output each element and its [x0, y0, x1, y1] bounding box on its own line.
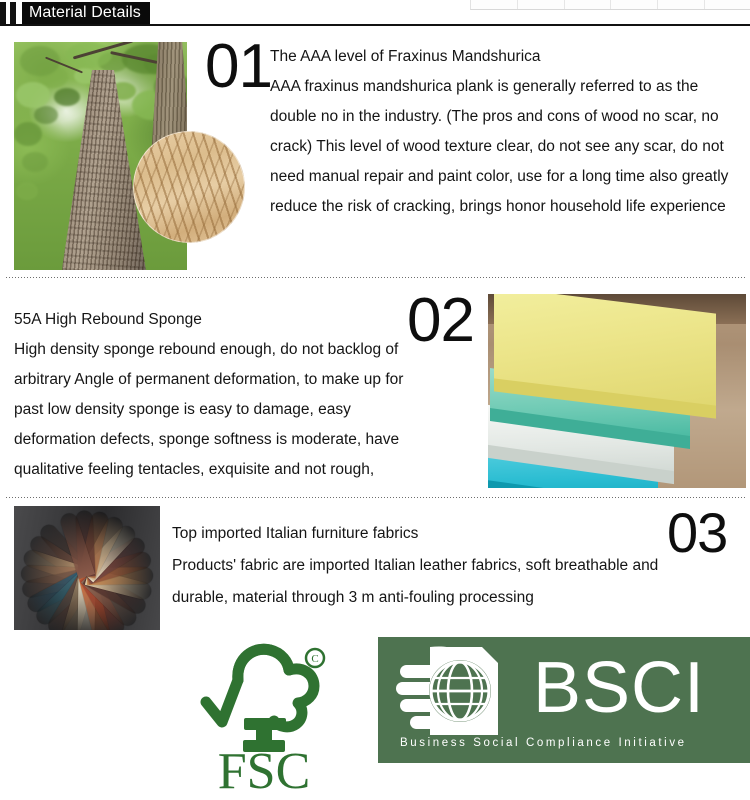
canopy-foliage — [16, 182, 38, 200]
svg-text:C: C — [311, 653, 318, 665]
canopy-foliage — [54, 88, 80, 106]
section-divider-1 — [6, 277, 746, 278]
section-01-heading: The AAA level of Fraxinus Mandshurica — [270, 48, 541, 65]
section-03-body: Products' fabric are imported Italian le… — [172, 557, 658, 606]
bsci-logo: BSCI Business Social Compliance Initiati… — [378, 637, 750, 763]
section-02-heading: 55A High Rebound Sponge — [14, 311, 202, 328]
bsci-hand-globe-icon — [396, 643, 526, 739]
section-03-heading: Top imported Italian furniture fabrics — [172, 525, 418, 542]
section-02-text: 55A High Rebound Sponge High density spo… — [14, 305, 434, 485]
canopy-foliage — [22, 152, 48, 172]
wood-grain-oval-inset — [133, 131, 245, 243]
canopy-foliage — [16, 82, 50, 108]
fsc-logo: C FSC — [186, 640, 346, 792]
leather-fabric-swatch-fan-photo — [14, 506, 160, 630]
bsci-tagline: Business Social Compliance Initiative — [400, 737, 740, 749]
bsci-wordmark: BSCI — [533, 641, 705, 735]
foam-sheet-yellow — [494, 294, 716, 406]
header-underline — [0, 24, 750, 26]
stacked-foam-sponge-sheets-photo — [488, 294, 746, 488]
section-02-body: High density sponge rebound enough, do n… — [14, 341, 403, 478]
canopy-foliage — [34, 106, 58, 124]
header-bar-glyph-left — [0, 2, 6, 24]
section-header: Material Details — [0, 2, 750, 24]
section-01-text: The AAA level of Fraxinus Mandshurica AA… — [270, 42, 748, 222]
canopy-foliage — [14, 122, 42, 146]
section-03-text: Top imported Italian furniture fabrics P… — [172, 518, 672, 614]
section-number-01: 01 — [205, 36, 272, 98]
section-number-03: 03 — [667, 505, 727, 561]
section-01-body: AAA fraxinus mandshurica plank is genera… — [270, 78, 728, 215]
fsc-tree-checkmark-icon: C FSC — [186, 640, 346, 792]
material-details-page: Material Details 01 The AAA level of Fra… — [0, 0, 750, 800]
fsc-wordmark: FSC — [218, 743, 311, 792]
section-divider-2 — [6, 497, 746, 498]
page-title: Material Details — [22, 2, 150, 24]
header-bar-glyph-right — [10, 2, 16, 24]
